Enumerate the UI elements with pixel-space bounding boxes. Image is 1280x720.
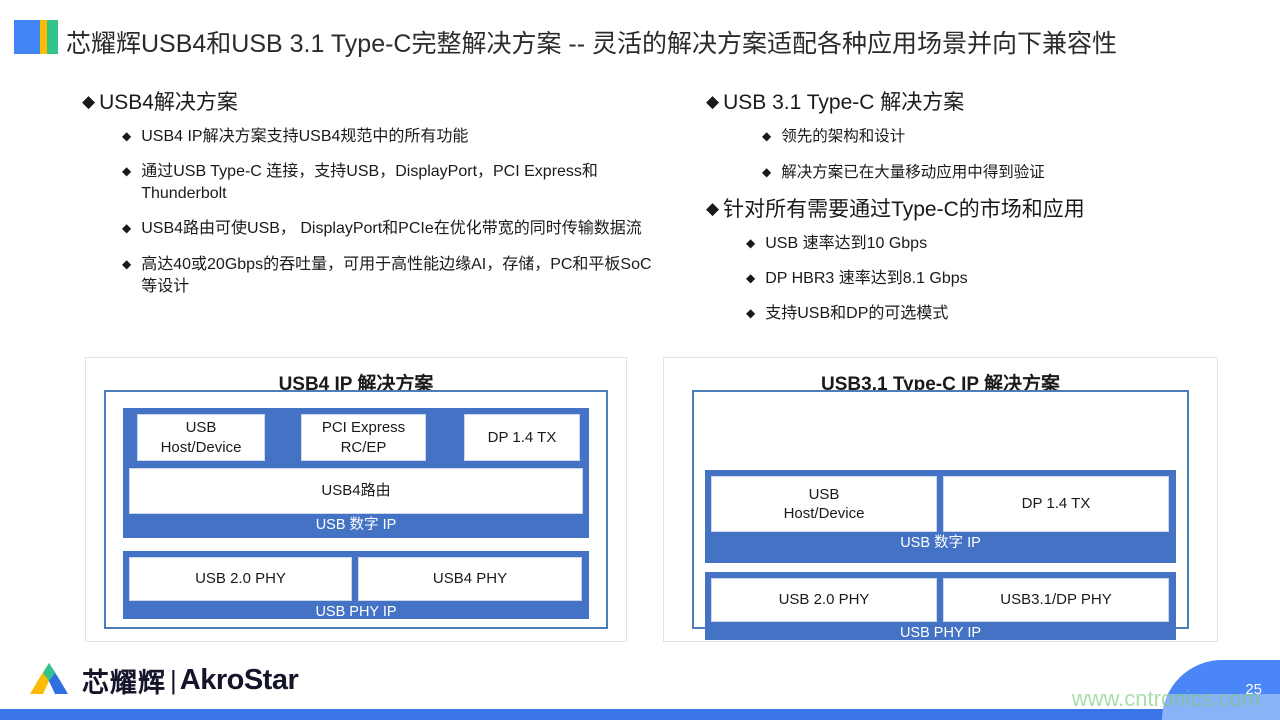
diamond-bullet-icon: ◆ <box>82 90 95 114</box>
list-item-label: USB4 IP解决方案支持USB4规范中的所有功能 <box>141 126 468 148</box>
diagram-usb4-ip: USB4 IP 解决方案 USBHost/Device PCI ExpressR… <box>85 357 627 642</box>
list-item: ◆ USB4 IP解决方案支持USB4规范中的所有功能 <box>122 126 652 148</box>
usb-digital-ip-label: USB 数字 IP <box>129 514 583 539</box>
block-usb-host-device: USBHost/Device <box>711 476 937 532</box>
block-dp-14-tx: DP 1.4 TX <box>943 476 1169 532</box>
diamond-bullet-icon: ◆ <box>706 197 719 221</box>
usb-digital-ip-group: USBHost/Device DP 1.4 TX USB 数字 IP <box>705 470 1176 563</box>
list-item-label: 解决方案已在大量移动应用中得到验证 <box>781 162 1045 183</box>
usb-phy-ip-label: USB PHY IP <box>711 622 1170 647</box>
right-heading-1-label: USB 3.1 Type-C 解决方案 <box>723 90 964 116</box>
footer-logo: 芯耀辉 | AkroStar <box>26 660 298 700</box>
right-content-column: ◆ USB 3.1 Type-C 解决方案 ◆ 领先的架构和设计 ◆ 解决方案已… <box>706 90 1266 338</box>
list-item: ◆ DP HBR3 速率达到8.1 Gbps <box>746 268 1266 290</box>
usb-digital-ip-label: USB 数字 IP <box>711 532 1170 557</box>
diamond-bullet-icon: ◆ <box>706 90 719 114</box>
diamond-bullet-icon: ◆ <box>122 161 131 182</box>
left-content-column: ◆ USB4解决方案 ◆ USB4 IP解决方案支持USB4规范中的所有功能 ◆… <box>82 90 652 311</box>
usb-phy-ip-group: USB 2.0 PHY USB3.1/DP PHY USB PHY IP <box>705 572 1176 640</box>
phy-ip-row-1: USB 2.0 PHY USB3.1/DP PHY <box>711 578 1170 622</box>
diamond-bullet-icon: ◆ <box>762 126 771 147</box>
brand-bar-yellow <box>40 20 47 54</box>
block-usb-20-phy: USB 2.0 PHY <box>711 578 937 622</box>
block-usb4-phy: USB4 PHY <box>358 557 582 601</box>
block-dp-14-tx: DP 1.4 TX <box>464 414 580 461</box>
block-usb-20-phy: USB 2.0 PHY <box>129 557 352 601</box>
list-item-label: USB 速率达到10 Gbps <box>765 233 927 255</box>
watermark: www.cntronics.com <box>1072 686 1260 712</box>
left-heading-label: USB4解决方案 <box>99 90 238 116</box>
diamond-bullet-icon: ◆ <box>122 126 131 147</box>
list-item-label: DP HBR3 速率达到8.1 Gbps <box>765 268 967 290</box>
diagram-right-frame: USBHost/Device DP 1.4 TX USB 数字 IP USB 2… <box>692 390 1189 629</box>
diamond-bullet-icon: ◆ <box>746 303 755 324</box>
list-item: ◆ USB 速率达到10 Gbps <box>746 233 1266 255</box>
block-pci-express: PCI ExpressRC/EP <box>301 414 426 461</box>
left-heading: ◆ USB4解决方案 <box>82 90 652 116</box>
right-heading-2: ◆ 针对所有需要通过Type-C的市场和应用 <box>706 197 1266 223</box>
logo-separator: | <box>170 665 177 696</box>
diamond-bullet-icon: ◆ <box>746 268 755 289</box>
right-heading-2-label: 针对所有需要通过Type-C的市场和应用 <box>723 197 1085 223</box>
diamond-bullet-icon: ◆ <box>122 254 131 275</box>
block-usb-host-device: USBHost/Device <box>137 414 265 461</box>
slide-header: 芯耀辉USB4和USB 3.1 Type-C完整解决方案 -- 灵活的解决方案适… <box>0 0 1280 72</box>
digital-ip-row-2: USB4路由 <box>129 468 583 514</box>
digital-ip-row-1: USBHost/Device DP 1.4 TX <box>711 476 1170 532</box>
page-title: 芯耀辉USB4和USB 3.1 Type-C完整解决方案 -- 灵活的解决方案适… <box>66 24 1117 60</box>
diamond-bullet-icon: ◆ <box>746 233 755 254</box>
block-usb4-router: USB4路由 <box>129 468 583 514</box>
digital-ip-row-1: USBHost/Device PCI ExpressRC/EP DP 1.4 T… <box>129 414 583 461</box>
list-item-label: 支持USB和DP的可选模式 <box>765 303 948 325</box>
list-item-label: 通过USB Type-C 连接，支持USB，DisplayPort，PCI Ex… <box>141 161 652 205</box>
right-heading-1: ◆ USB 3.1 Type-C 解决方案 <box>706 90 1266 116</box>
list-item: ◆ USB4路由可使USB， DisplayPort和PCIe在优化带宽的同时传… <box>122 218 652 240</box>
diagram-usb31-typec-ip: USB3.1 Type-C IP 解决方案 USBHost/Device DP … <box>663 357 1218 642</box>
phy-ip-row-1: USB 2.0 PHY USB4 PHY <box>129 557 583 601</box>
list-item-label: 高达40或20Gbps的吞吐量，可用于高性能边缘AI，存储，PC和平板SoC等设… <box>141 254 652 298</box>
akrostar-logo-icon <box>26 660 72 700</box>
list-item: ◆ 通过USB Type-C 连接，支持USB，DisplayPort，PCI … <box>122 161 652 205</box>
list-item-label: 领先的架构和设计 <box>781 126 905 147</box>
diamond-bullet-icon: ◆ <box>122 218 131 239</box>
list-item: ◆ 高达40或20Gbps的吞吐量，可用于高性能边缘AI，存储，PC和平板SoC… <box>122 254 652 298</box>
block-usb31-dp-phy: USB3.1/DP PHY <box>943 578 1169 622</box>
list-item: ◆ 支持USB和DP的可选模式 <box>746 303 1266 325</box>
list-item-label: USB4路由可使USB， DisplayPort和PCIe在优化带宽的同时传输数… <box>141 218 642 240</box>
list-item: ◆ 解决方案已在大量移动应用中得到验证 <box>762 162 1266 183</box>
brand-bar-green <box>47 20 58 54</box>
logo-english-name: AkroStar <box>180 664 299 697</box>
diagram-left-frame: USBHost/Device PCI ExpressRC/EP DP 1.4 T… <box>104 390 608 629</box>
brand-bar-blue <box>14 20 40 54</box>
list-item: ◆ 领先的架构和设计 <box>762 126 1266 147</box>
logo-chinese-name: 芯耀辉 <box>82 661 166 700</box>
usb-phy-ip-group: USB 2.0 PHY USB4 PHY USB PHY IP <box>123 551 589 619</box>
usb-phy-ip-label: USB PHY IP <box>129 601 583 626</box>
brand-mark-icon <box>14 20 58 54</box>
usb-digital-ip-group: USBHost/Device PCI ExpressRC/EP DP 1.4 T… <box>123 408 589 538</box>
diamond-bullet-icon: ◆ <box>762 162 771 183</box>
